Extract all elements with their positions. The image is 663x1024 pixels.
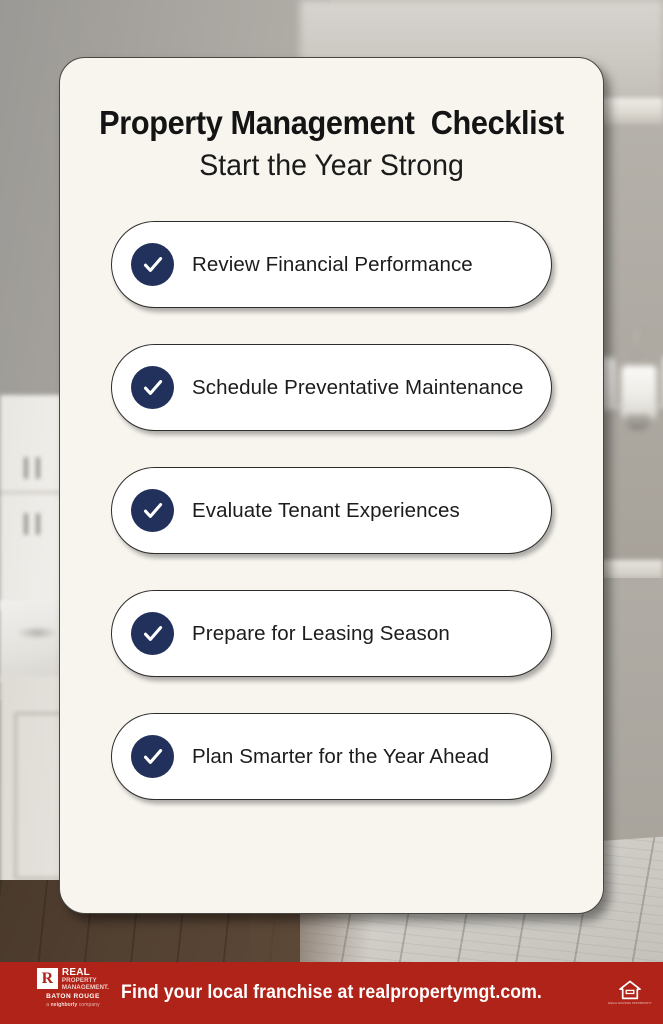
list-item-label: Plan Smarter for the Year Ahead xyxy=(192,745,489,769)
footer-bar: R REAL PROPERTY MANAGEMENT. BATON ROUGE … xyxy=(0,962,663,1024)
equal-housing-label: EQUAL HOUSING OPPORTUNITY xyxy=(608,1002,651,1005)
list-item[interactable]: Schedule Preventative Maintenance xyxy=(111,344,552,431)
cabinet-handle xyxy=(24,457,28,479)
checklist-card: Property Management Checklist Start the … xyxy=(59,57,604,914)
check-icon xyxy=(131,612,174,655)
cabinet-handle xyxy=(36,457,40,479)
check-icon xyxy=(131,489,174,532)
list-item-label: Prepare for Leasing Season xyxy=(192,622,450,646)
check-icon xyxy=(131,735,174,778)
chandelier-body xyxy=(626,414,650,430)
check-icon xyxy=(131,366,174,409)
list-item-label: Review Financial Performance xyxy=(192,253,473,277)
equal-housing-opportunity-icon: EQUAL HOUSING OPPORTUNITY xyxy=(617,979,643,1007)
list-item-label: Schedule Preventative Maintenance xyxy=(192,376,524,400)
footer-tagline: Find your local franchise at realpropert… xyxy=(23,982,640,1004)
list-item[interactable]: Prepare for Leasing Season xyxy=(111,590,552,677)
chandelier-shade xyxy=(622,366,656,418)
card-header: Property Management Checklist Start the … xyxy=(60,58,603,183)
list-item[interactable]: Plan Smarter for the Year Ahead xyxy=(111,713,552,800)
list-item[interactable]: Evaluate Tenant Experiences xyxy=(111,467,552,554)
list-item[interactable]: Review Financial Performance xyxy=(111,221,552,308)
list-item-label: Evaluate Tenant Experiences xyxy=(192,499,460,523)
cabinet-handle xyxy=(24,513,28,535)
page-subtitle: Start the Year Strong xyxy=(74,149,590,183)
page-title: Property Management Checklist xyxy=(79,104,584,142)
check-icon xyxy=(131,243,174,286)
checklist: Review Financial Performance Schedule Pr… xyxy=(60,221,603,800)
cabinet-handle xyxy=(36,513,40,535)
